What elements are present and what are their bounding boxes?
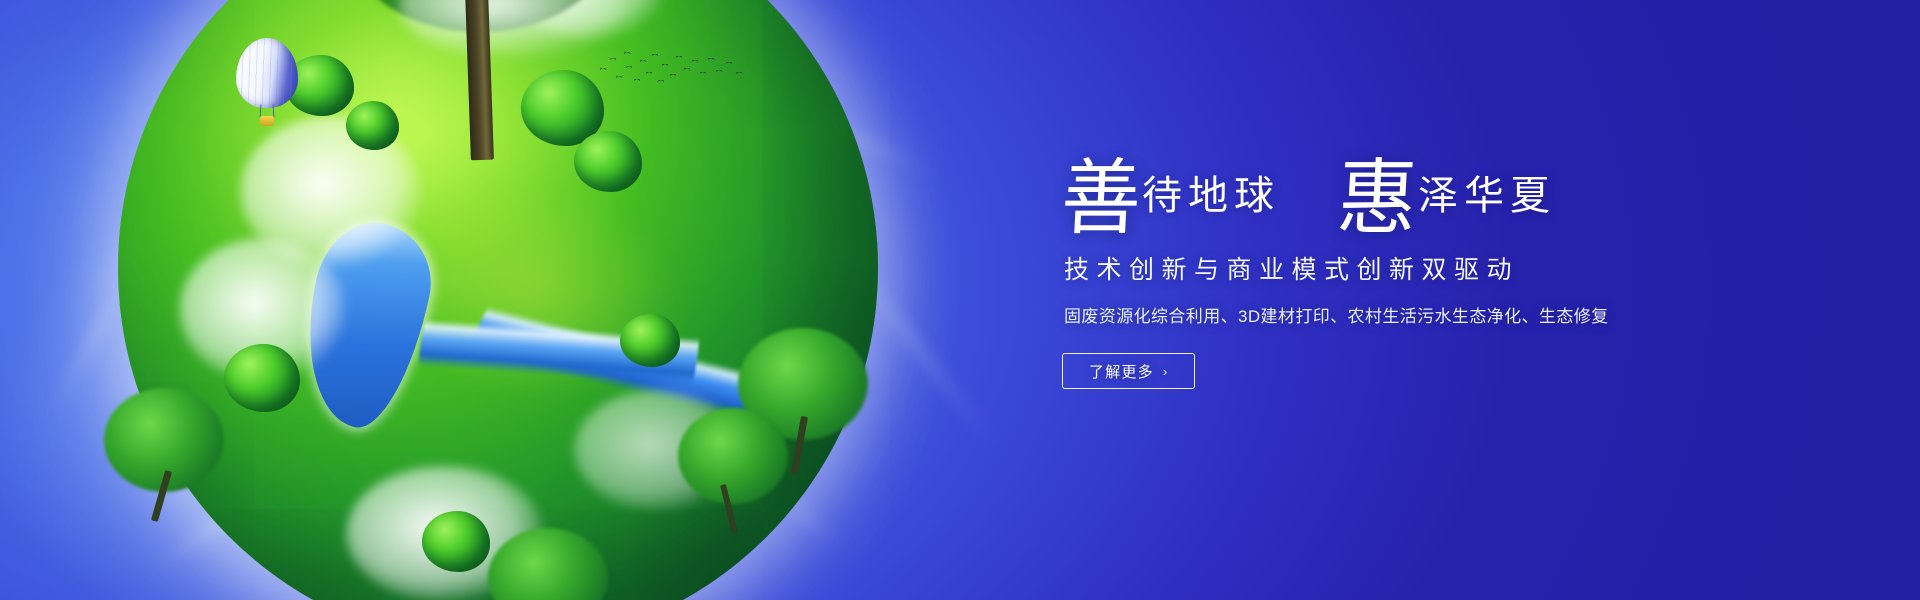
learn-more-label: 了解更多 [1089, 361, 1154, 382]
bird-icon [646, 72, 651, 76]
chevron-right-icon: › [1163, 365, 1169, 378]
bird-icon [708, 58, 713, 62]
banner-description: 固废资源化综合利用、3D建材打印、农村生活污水生态净化、生态修复 [1064, 302, 1562, 327]
hero-banner: 善 待地球 惠 泽华夏 技术创新与商业模式创新双驱动 固废资源化综合利用、3D建… [0, 0, 1920, 600]
balloon-basket [260, 116, 274, 126]
hot-air-balloon-icon [236, 38, 298, 130]
headline-segment-2: 惠 泽华夏 [1338, 164, 1556, 236]
headline-rest-1: 待地球 [1142, 166, 1280, 236]
bird-icon [658, 80, 663, 84]
headline-lead-char-1: 善 [1059, 162, 1143, 238]
headline-lead-char-2: 惠 [1335, 162, 1419, 238]
banner-copy-block: 善 待地球 惠 泽华夏 技术创新与商业模式创新双驱动 固废资源化综合利用、3D建… [1062, 140, 1562, 389]
bird-icon [616, 76, 621, 80]
headline-rest-2: 泽华夏 [1418, 166, 1556, 236]
bird-icon [692, 60, 697, 64]
globe-tree-cluster-7 [620, 314, 681, 367]
bird-icon [624, 52, 629, 56]
globe-rim-tree-left [104, 388, 224, 528]
bird-icon [684, 68, 689, 72]
globe-tree-cluster-6 [422, 511, 490, 572]
hero-tree [335, 0, 625, 156]
bird-icon [634, 79, 639, 83]
bird-flock [596, 46, 746, 92]
bird-icon [736, 72, 741, 76]
page-title: 善 待地球 惠 泽华夏 [1062, 140, 1562, 236]
bird-icon [640, 60, 645, 64]
headline-segment-1: 善 待地球 [1062, 164, 1280, 236]
balloon-envelope [236, 38, 298, 108]
bird-icon [652, 54, 657, 58]
bird-icon [610, 58, 615, 62]
globe-rim-tree-right-2 [678, 408, 788, 538]
bird-icon [716, 70, 721, 74]
banner-subtitle: 技术创新与商业模式创新双驱动 [1064, 250, 1562, 286]
bird-icon [726, 62, 731, 66]
bird-icon [700, 72, 705, 76]
learn-more-button[interactable]: 了解更多 › [1062, 353, 1195, 389]
bird-icon [676, 56, 681, 60]
bird-icon [600, 68, 605, 72]
globe-tree-cluster-5 [224, 344, 300, 412]
bird-icon [670, 74, 675, 78]
hero-tree-mist [399, 0, 625, 58]
bird-icon [662, 64, 667, 68]
bird-icon [626, 66, 631, 70]
globe-rim-tree-bottom [488, 528, 608, 600]
